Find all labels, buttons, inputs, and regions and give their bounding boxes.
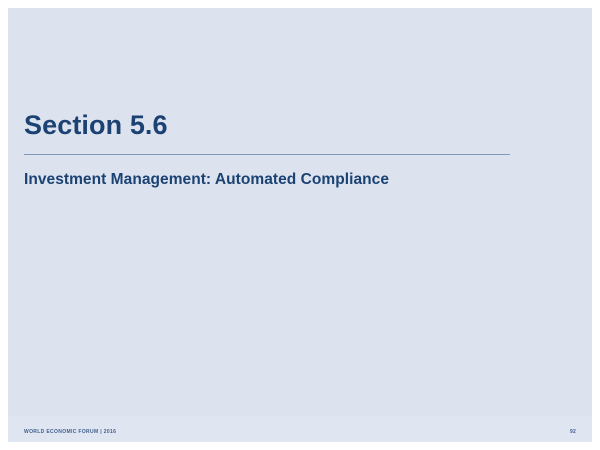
footer-page-number: 92	[570, 429, 576, 435]
presentation-slide: Section 5.6 Investment Management: Autom…	[8, 8, 592, 442]
title-divider	[24, 154, 510, 155]
footer-organization-label: WORLD ECONOMIC FORUM | 2016	[24, 429, 116, 435]
slide-content: Section 5.6 Investment Management: Autom…	[24, 8, 576, 442]
page-subtitle: Investment Management: Automated Complia…	[24, 170, 389, 189]
page-title: Section 5.6	[24, 111, 168, 141]
slide-footer: WORLD ECONOMIC FORUM | 2016 92	[8, 416, 592, 442]
